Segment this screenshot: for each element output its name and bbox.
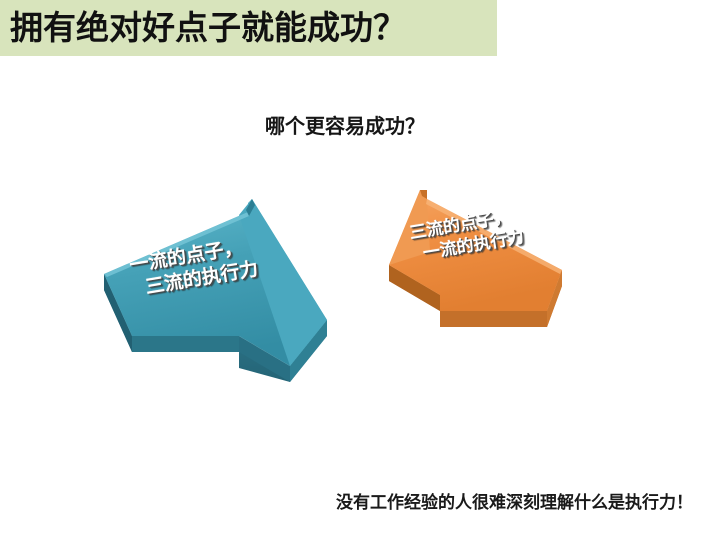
arrow-diagram (0, 0, 721, 540)
blue-arrow-left-side (104, 274, 132, 352)
orange-arrow-caption: 三流的点子， 一流的执行力 (408, 205, 526, 266)
bottom-caption: 没有工作经验的人很难深刻理解什么是执行力！ (0, 488, 705, 513)
orange-arrow-side (389, 265, 562, 327)
blue-arrow-tip-side (290, 320, 327, 382)
blue-arrow-tip-lower-side (239, 336, 290, 382)
arrow-diagram-svg (0, 0, 721, 540)
orange-arrow-tip-lower-side (389, 265, 440, 311)
blue-arrow-caption: 一流的点子， 三流的执行力 (128, 234, 260, 303)
title-band: 拥有绝对好点子就能成功？ (0, 0, 497, 56)
blue-arrow-spine (246, 199, 255, 216)
orange-arrow-tail-side (547, 270, 562, 327)
slide-canvas: 拥有绝对好点子就能成功？ 哪个更容易成功？ (0, 0, 721, 540)
orange-arrow-bottom-edge (440, 311, 547, 327)
subtitle-question: 哪个更容易成功？ (0, 110, 690, 139)
page-title: 拥有绝对好点子就能成功？ (10, 2, 490, 54)
orange-arrow-spine (420, 190, 427, 199)
blue-arrow-bottom-edge (132, 336, 239, 352)
